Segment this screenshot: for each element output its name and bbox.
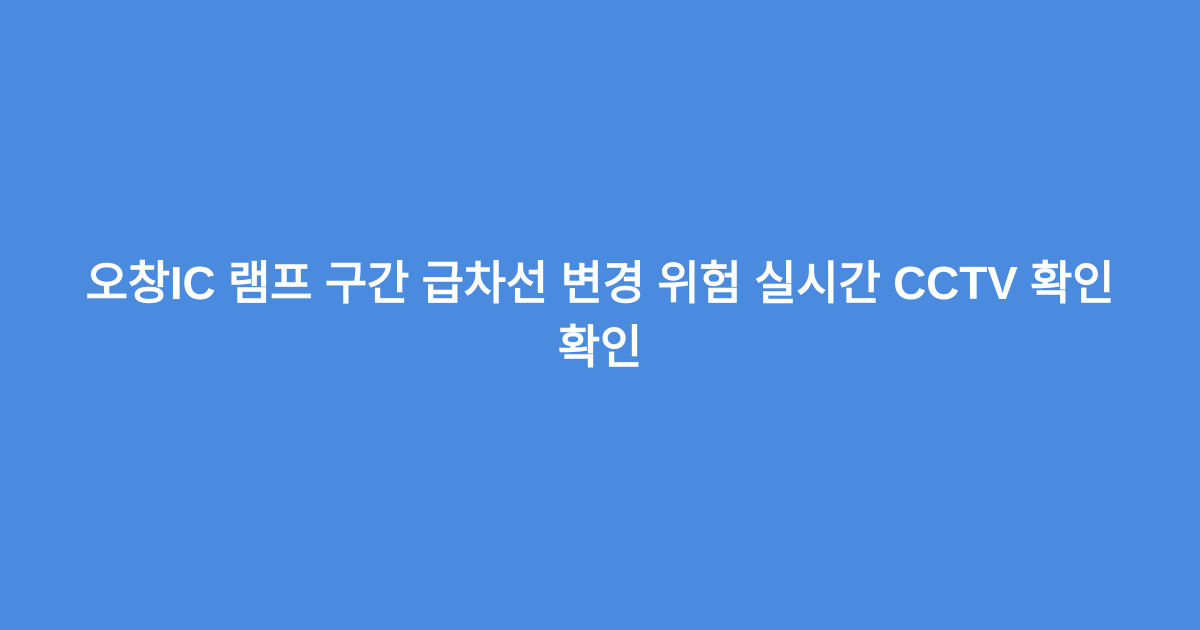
social-share-card: 오창IC 램프 구간 급차선 변경 위험 실시간 CCTV 확인 확인 (0, 0, 1200, 630)
card-content-wrapper: 오창IC 램프 구간 급차선 변경 위험 실시간 CCTV 확인 확인 (0, 251, 1200, 379)
page-title: 오창IC 램프 구간 급차선 변경 위험 실시간 CCTV 확인 확인 (60, 251, 1140, 379)
